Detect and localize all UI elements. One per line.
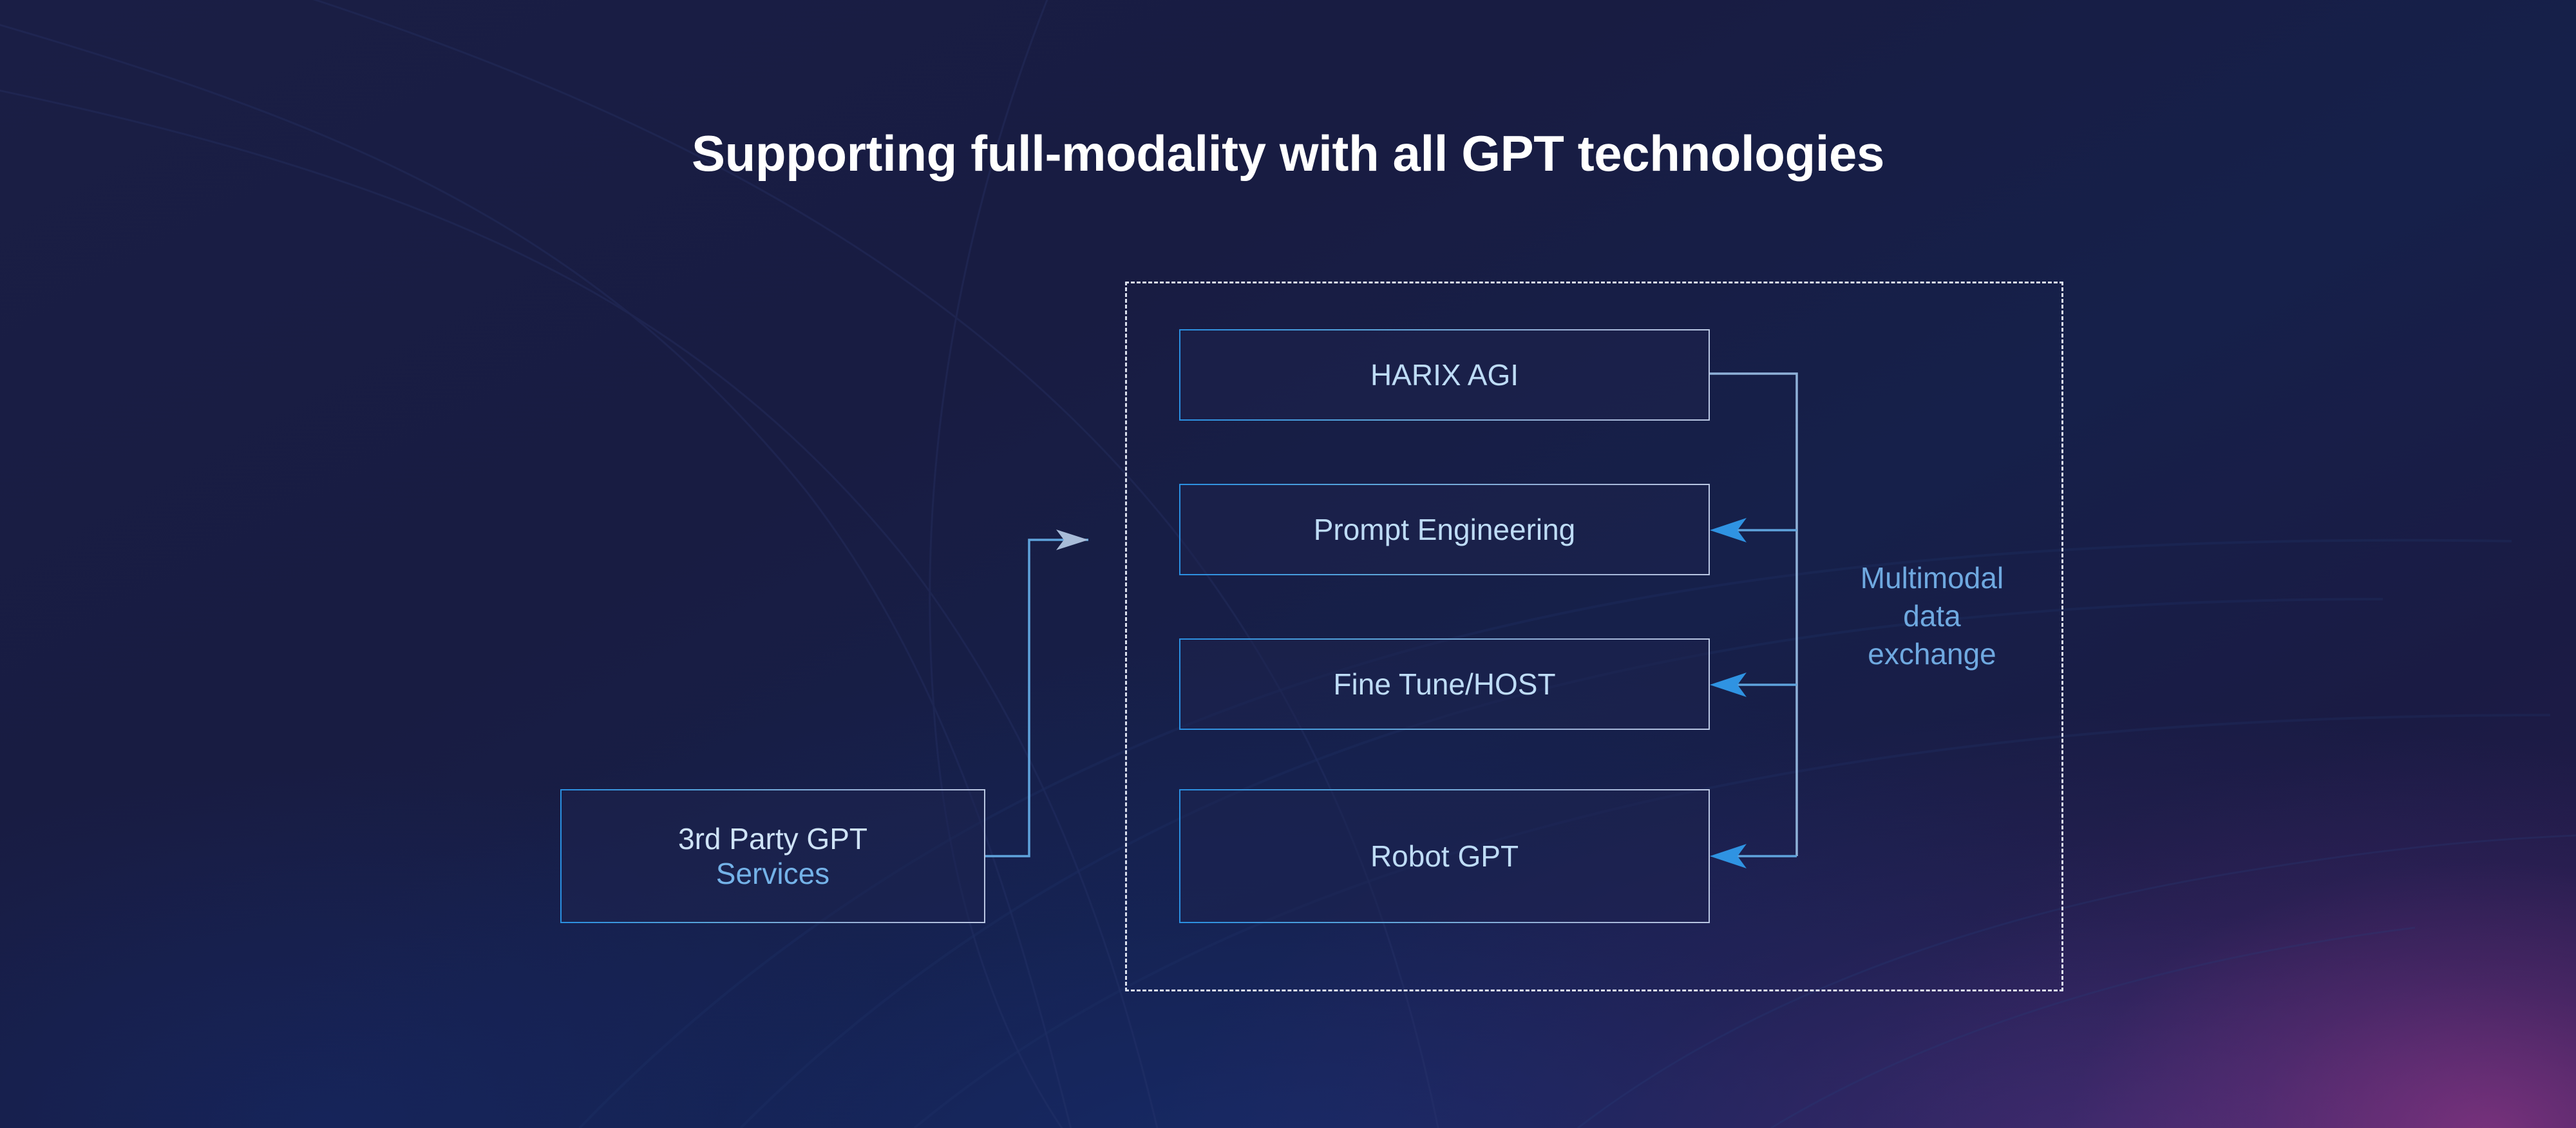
node-harix-agi[interactable]: HARIX AGI (1179, 329, 1710, 421)
caption-line-2: data (1903, 599, 1961, 633)
arrowhead-right-into-group (1056, 530, 1088, 550)
third-party-line-1: 3rd Party GPT (678, 822, 867, 856)
multimodal-data-exchange-caption: Multimodal data exchange (1810, 559, 2054, 673)
caption-line-3: exchange (1868, 637, 1996, 671)
node-prompt-engineering[interactable]: Prompt Engineering (1179, 484, 1710, 575)
caption-line-1: Multimodal (1861, 561, 2003, 595)
page-title: Supporting full-modality with all GPT te… (0, 126, 2576, 182)
connector-third-party-to-group (985, 540, 1088, 856)
node-fine-tune-host[interactable]: Fine Tune/HOST (1179, 638, 1710, 730)
third-party-line-2: Services (716, 857, 829, 890)
node-third-party-gpt-services-label: 3rd Party GPT Services (678, 821, 867, 892)
slide-canvas: Supporting full-modality with all GPT te… (0, 0, 2576, 1128)
node-fine-tune-host-label: Fine Tune/HOST (1333, 667, 1555, 702)
node-harix-agi-label: HARIX AGI (1370, 358, 1519, 392)
node-prompt-engineering-label: Prompt Engineering (1314, 512, 1576, 547)
node-robot-gpt-label: Robot GPT (1370, 839, 1519, 874)
node-robot-gpt[interactable]: Robot GPT (1179, 789, 1710, 923)
node-third-party-gpt-services[interactable]: 3rd Party GPT Services (560, 789, 985, 923)
